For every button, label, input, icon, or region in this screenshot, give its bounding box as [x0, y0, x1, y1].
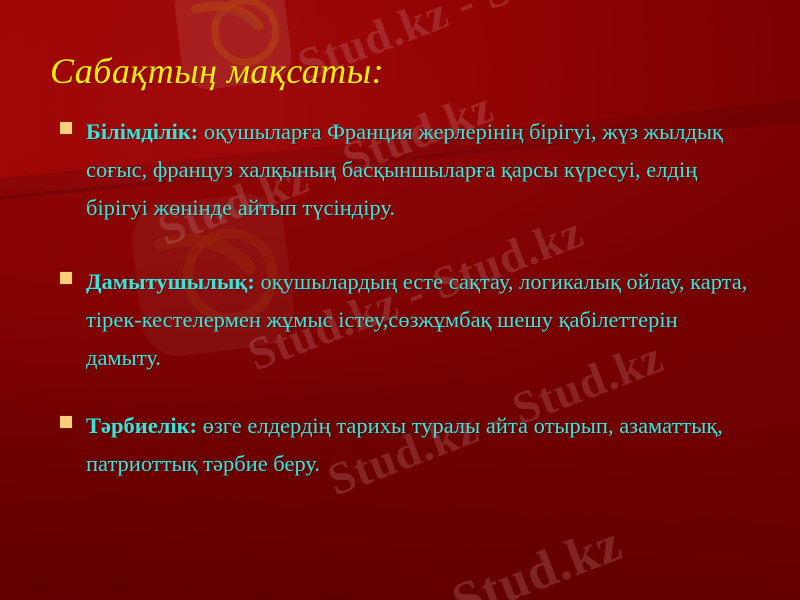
list-item-lead: Дамытушылық:	[86, 269, 255, 294]
list-item: Дамытушылық: оқушылардың есте сақтау, ло…	[56, 263, 756, 377]
bullet-marker-icon	[60, 416, 72, 428]
bullet-marker-icon	[60, 272, 72, 284]
list-item-lead: Тәрбиелік:	[86, 413, 197, 438]
list-item: Білімділік: оқушыларға Франция жерлеріні…	[56, 113, 756, 227]
list-item-lead: Білімділік:	[86, 119, 198, 144]
list-item: Тәрбиелік: өзге елдердің тарихы туралы а…	[56, 407, 756, 483]
bullet-marker-icon	[60, 122, 72, 134]
slide-canvas: Stud.kz - Stud.kz Stud.kz - Stud.kz Stud…	[0, 0, 800, 600]
bullet-list: Білімділік: оқушыларға Франция жерлеріні…	[56, 113, 756, 509]
page-title: Сабақтың мақсаты:	[50, 50, 384, 92]
